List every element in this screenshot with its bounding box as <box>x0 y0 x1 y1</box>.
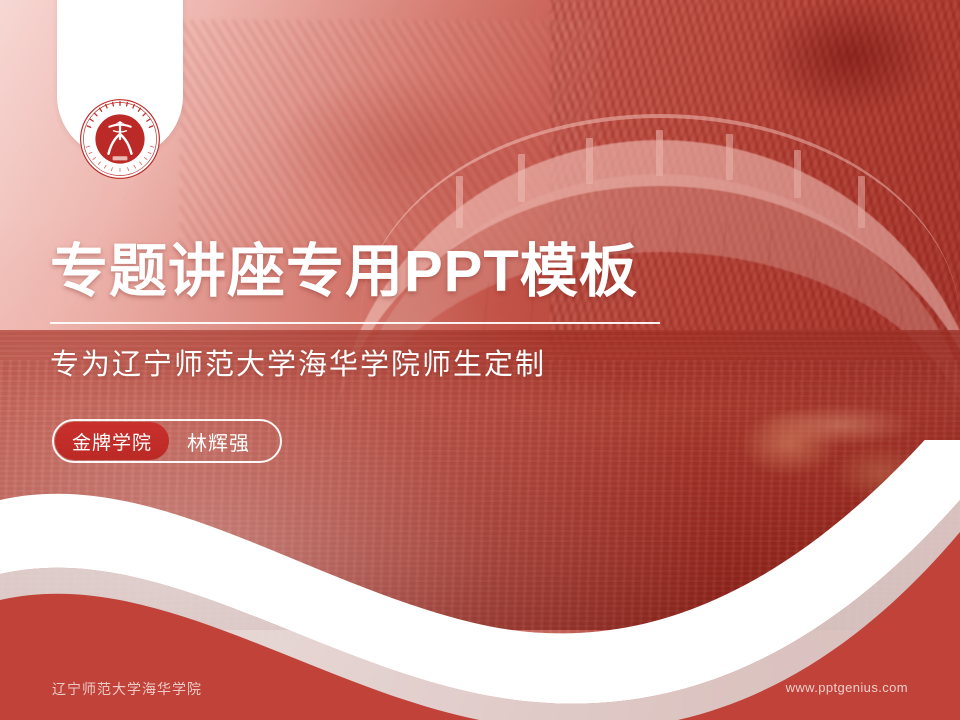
title-divider <box>50 322 660 324</box>
page-subtitle: 专为辽宁师范大学海华学院师生定制 <box>50 348 546 383</box>
status-badge: 金牌学院 <box>55 422 169 460</box>
credit-pill: 金牌学院 林辉强 <box>52 419 282 463</box>
bottom-wave-decoration <box>0 440 960 720</box>
footer-institution: 辽宁师范大学海华学院 <box>52 679 202 699</box>
footer-website: www.pptgenius.com <box>786 680 908 695</box>
university-seal-logo <box>79 98 161 180</box>
page-title: 专题讲座专用PPT模板 <box>50 243 638 301</box>
logo-tab-panel <box>57 0 183 158</box>
presentation-title-slide: 专题讲座专用PPT模板 专为辽宁师范大学海华学院师生定制 金牌学院 林辉强 辽宁… <box>0 0 960 720</box>
author-name: 林辉强 <box>187 427 250 456</box>
